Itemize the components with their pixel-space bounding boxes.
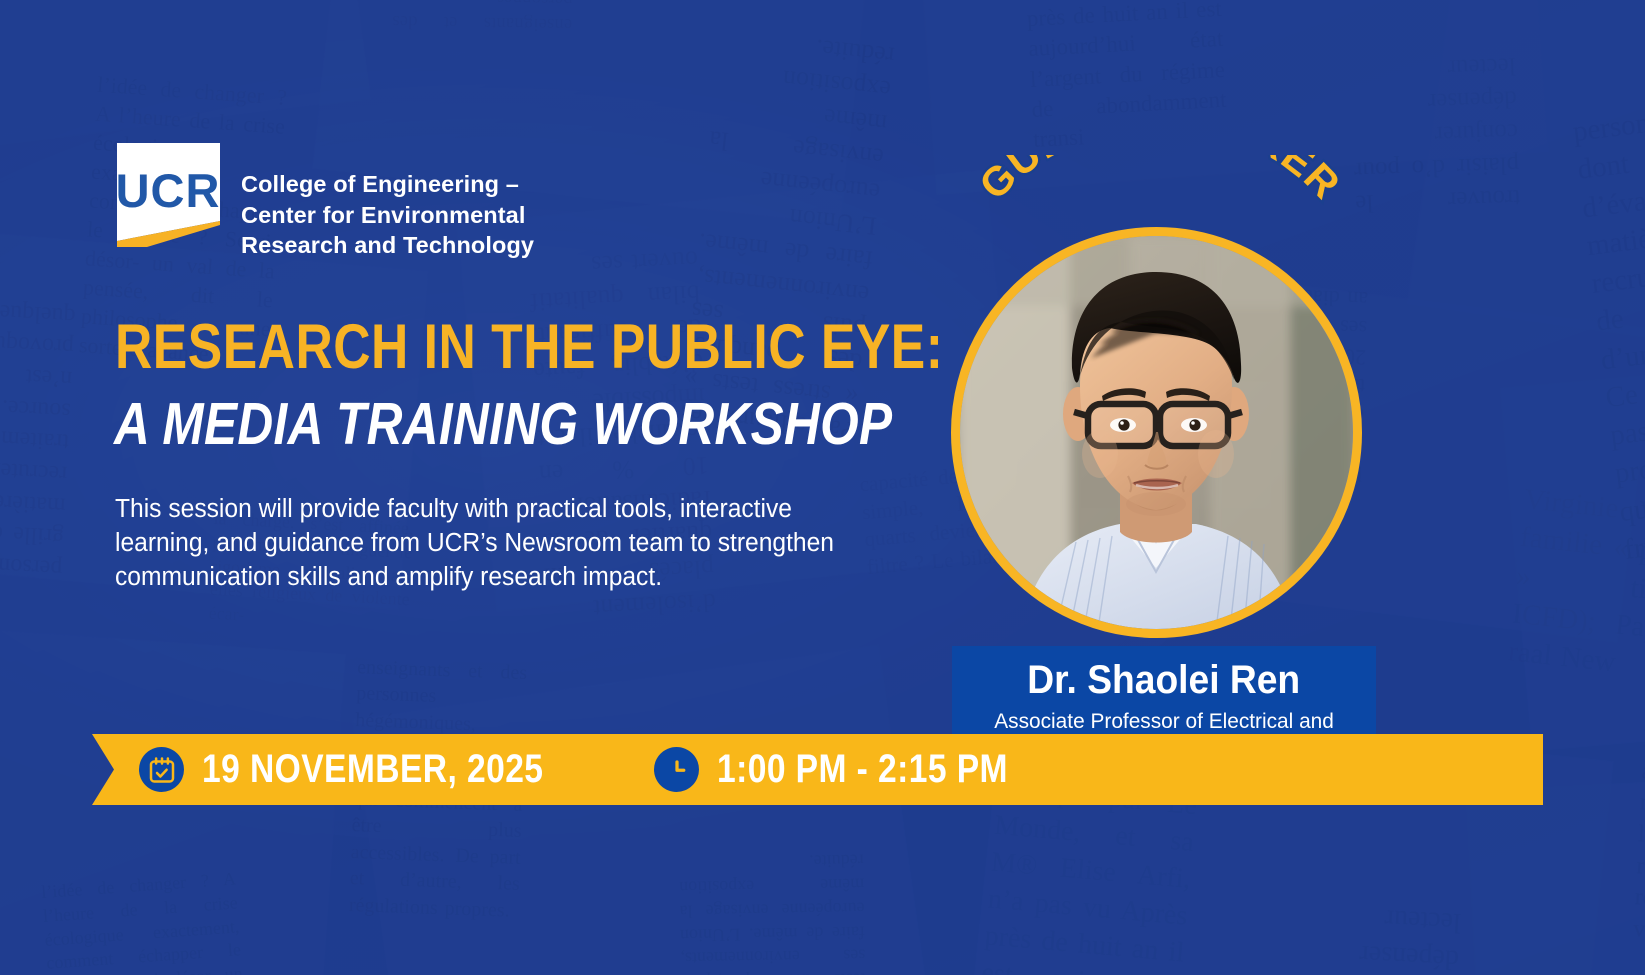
event-description: This session will provide faculty with p… <box>115 492 863 594</box>
event-time: 1:00 PM - 2:15 PM <box>717 747 1008 792</box>
event-title: RESEARCH IN THE PUBLIC EYE: <box>115 316 943 379</box>
event-subtitle: A MEDIA TRAINING WORKSHOP <box>114 395 892 454</box>
event-date: 19 NOVEMBER, 2025 <box>202 747 543 792</box>
ucr-logo-block: UCR College of Engineering – Center for … <box>117 143 534 261</box>
speaker-photo <box>960 236 1353 629</box>
speaker-photo-ring <box>951 227 1362 638</box>
svg-text:UCR: UCR <box>117 164 220 217</box>
calendar-check-icon <box>139 747 184 792</box>
event-flyer: quand il ajoute : « le le paye d’une cer… <box>0 0 1645 975</box>
organization-name: College of Engineering – Center for Envi… <box>241 143 534 261</box>
date-time-banner: 19 NOVEMBER, 2025 1:00 PM - 2:15 PM <box>92 734 1543 805</box>
clock-icon <box>654 747 699 792</box>
speaker-name: Dr. Shaolei Ren <box>1028 659 1301 701</box>
ucr-logo-icon: UCR <box>117 143 220 247</box>
